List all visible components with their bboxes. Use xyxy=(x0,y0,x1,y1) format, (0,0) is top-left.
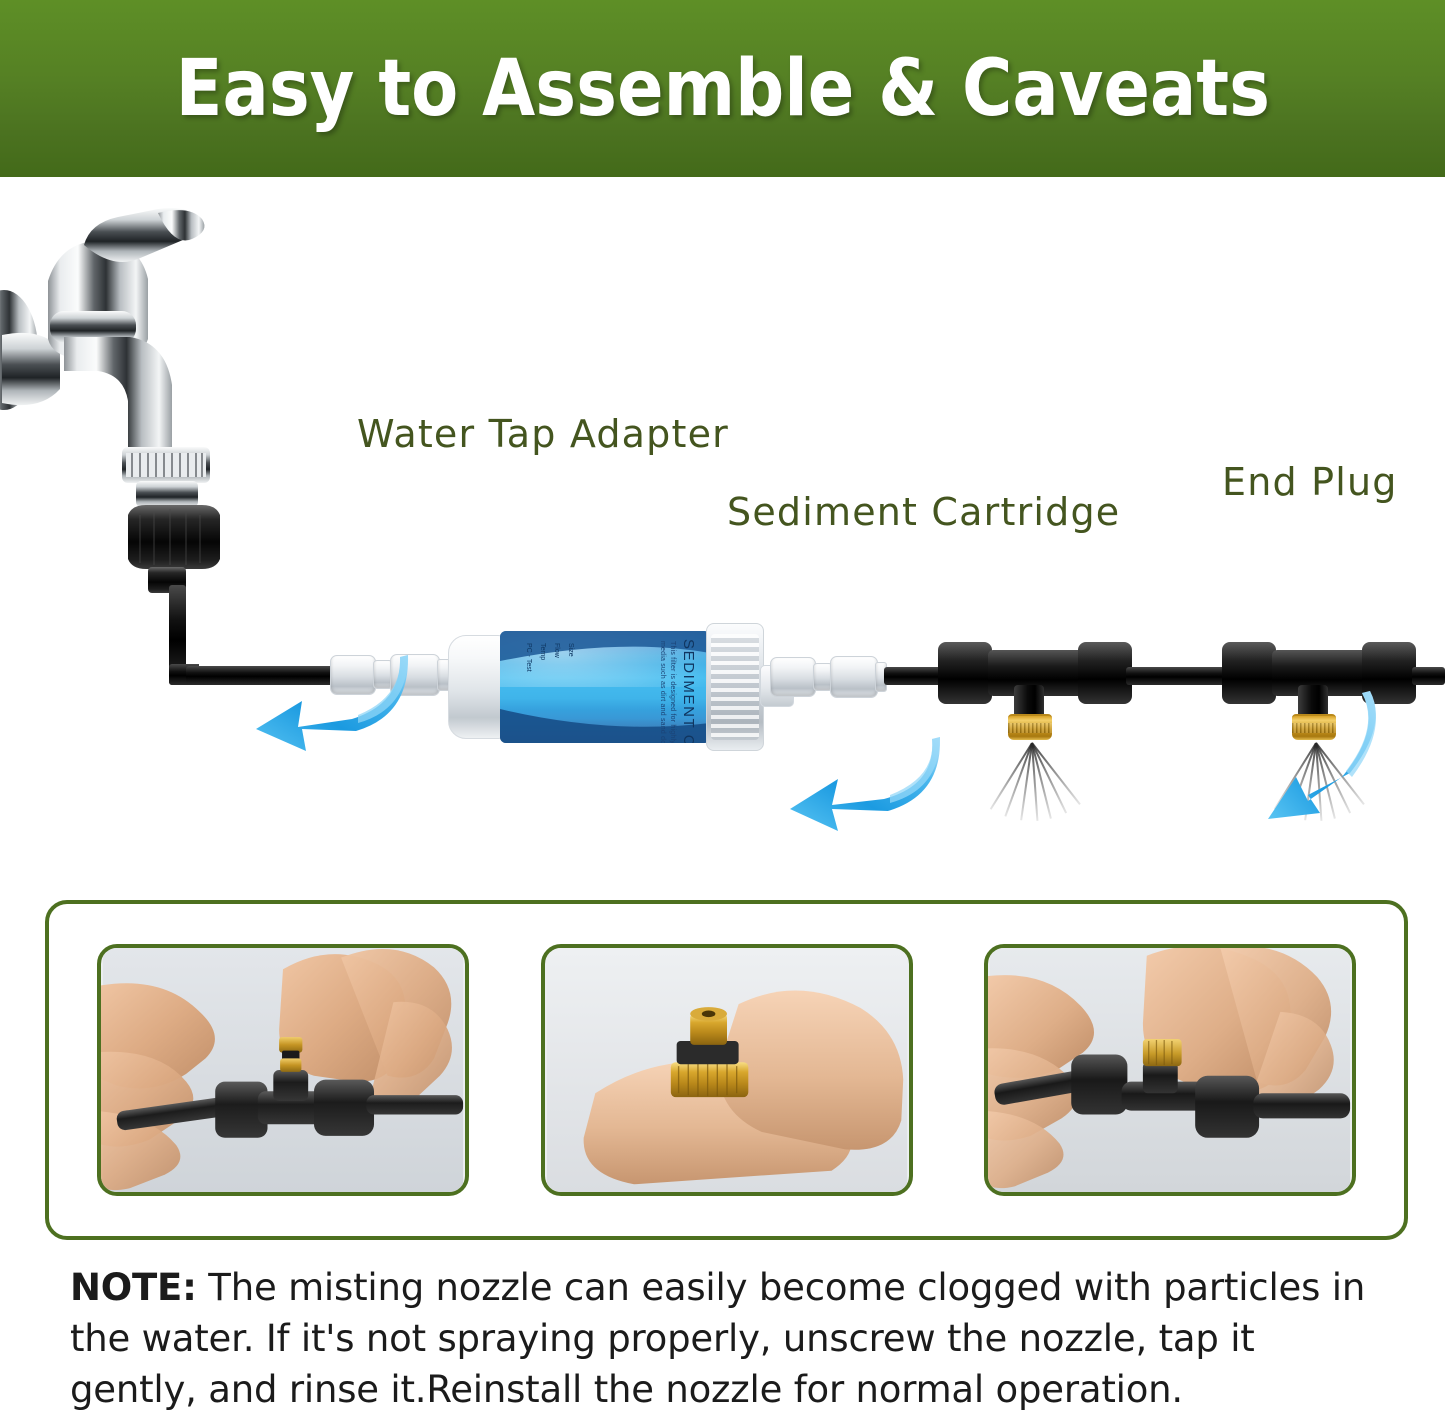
page-title: Easy to Assemble & Caveats xyxy=(175,50,1269,128)
cartridge-cap-right xyxy=(706,623,764,751)
photo-nozzle-closeup xyxy=(541,944,913,1196)
arrow-to-sediment-cartridge xyxy=(762,717,940,843)
label-end-plug: End Plug xyxy=(1222,460,1398,504)
tee1-spray-fan xyxy=(1030,743,1032,823)
hose-between-tees xyxy=(1126,667,1226,685)
cartridge-fine-print-2: media such as dirt and sand down to nomi… xyxy=(659,641,666,743)
cartridge-title-text: SEDIMENT CARTRIDGE xyxy=(681,639,696,743)
cartridge-body: SEDIMENT CARTRIDGE For Remove Of Sand Di… xyxy=(500,631,710,743)
note-label: NOTE: xyxy=(70,1266,197,1309)
sediment-cartridge-illustration: SEDIMENT CARTRIDGE For Remove Of Sand Di… xyxy=(448,617,778,757)
assembly-diagram: SEDIMENT CARTRIDGE For Remove Of Sand Di… xyxy=(0,177,1445,892)
cartridge-cap-left xyxy=(448,635,506,739)
cartridge-spec-0: Size xyxy=(567,643,574,657)
note-block: NOTE: The misting nozzle can easily beco… xyxy=(70,1262,1390,1415)
cartridge-spec-3: PC - Test xyxy=(525,643,532,672)
photo-screw-nozzle xyxy=(984,944,1356,1196)
hose-tail-end xyxy=(1412,667,1445,685)
tee1-nut-left xyxy=(938,642,992,704)
tee1-nut-right xyxy=(1078,642,1132,704)
quick-connect-right-a xyxy=(770,657,816,697)
tee1-brass-nozzle xyxy=(1008,714,1052,740)
water-tap-illustration xyxy=(0,185,332,605)
cartridge-spec-1: Flow xyxy=(553,643,560,658)
photo-insert-nozzle xyxy=(97,944,469,1196)
note-text: The misting nozzle can easily become clo… xyxy=(70,1266,1365,1411)
cartridge-spec-2: Temp xyxy=(539,643,546,660)
header-banner: Easy to Assemble & Caveats xyxy=(0,0,1445,177)
arrow-to-end-plug xyxy=(1246,685,1396,825)
cartridge-fine-print-1: This filter is designed for highly effec… xyxy=(669,641,676,743)
quick-connect-right-b xyxy=(830,656,878,698)
arrow-to-tap-adapter xyxy=(232,639,410,767)
label-sediment-cartridge: Sediment Cartridge xyxy=(727,490,1120,534)
hose-to-tee-1 xyxy=(884,667,942,685)
label-water-tap-adapter: Water Tap Adapter xyxy=(357,412,729,456)
instruction-photo-panel xyxy=(45,900,1408,1240)
